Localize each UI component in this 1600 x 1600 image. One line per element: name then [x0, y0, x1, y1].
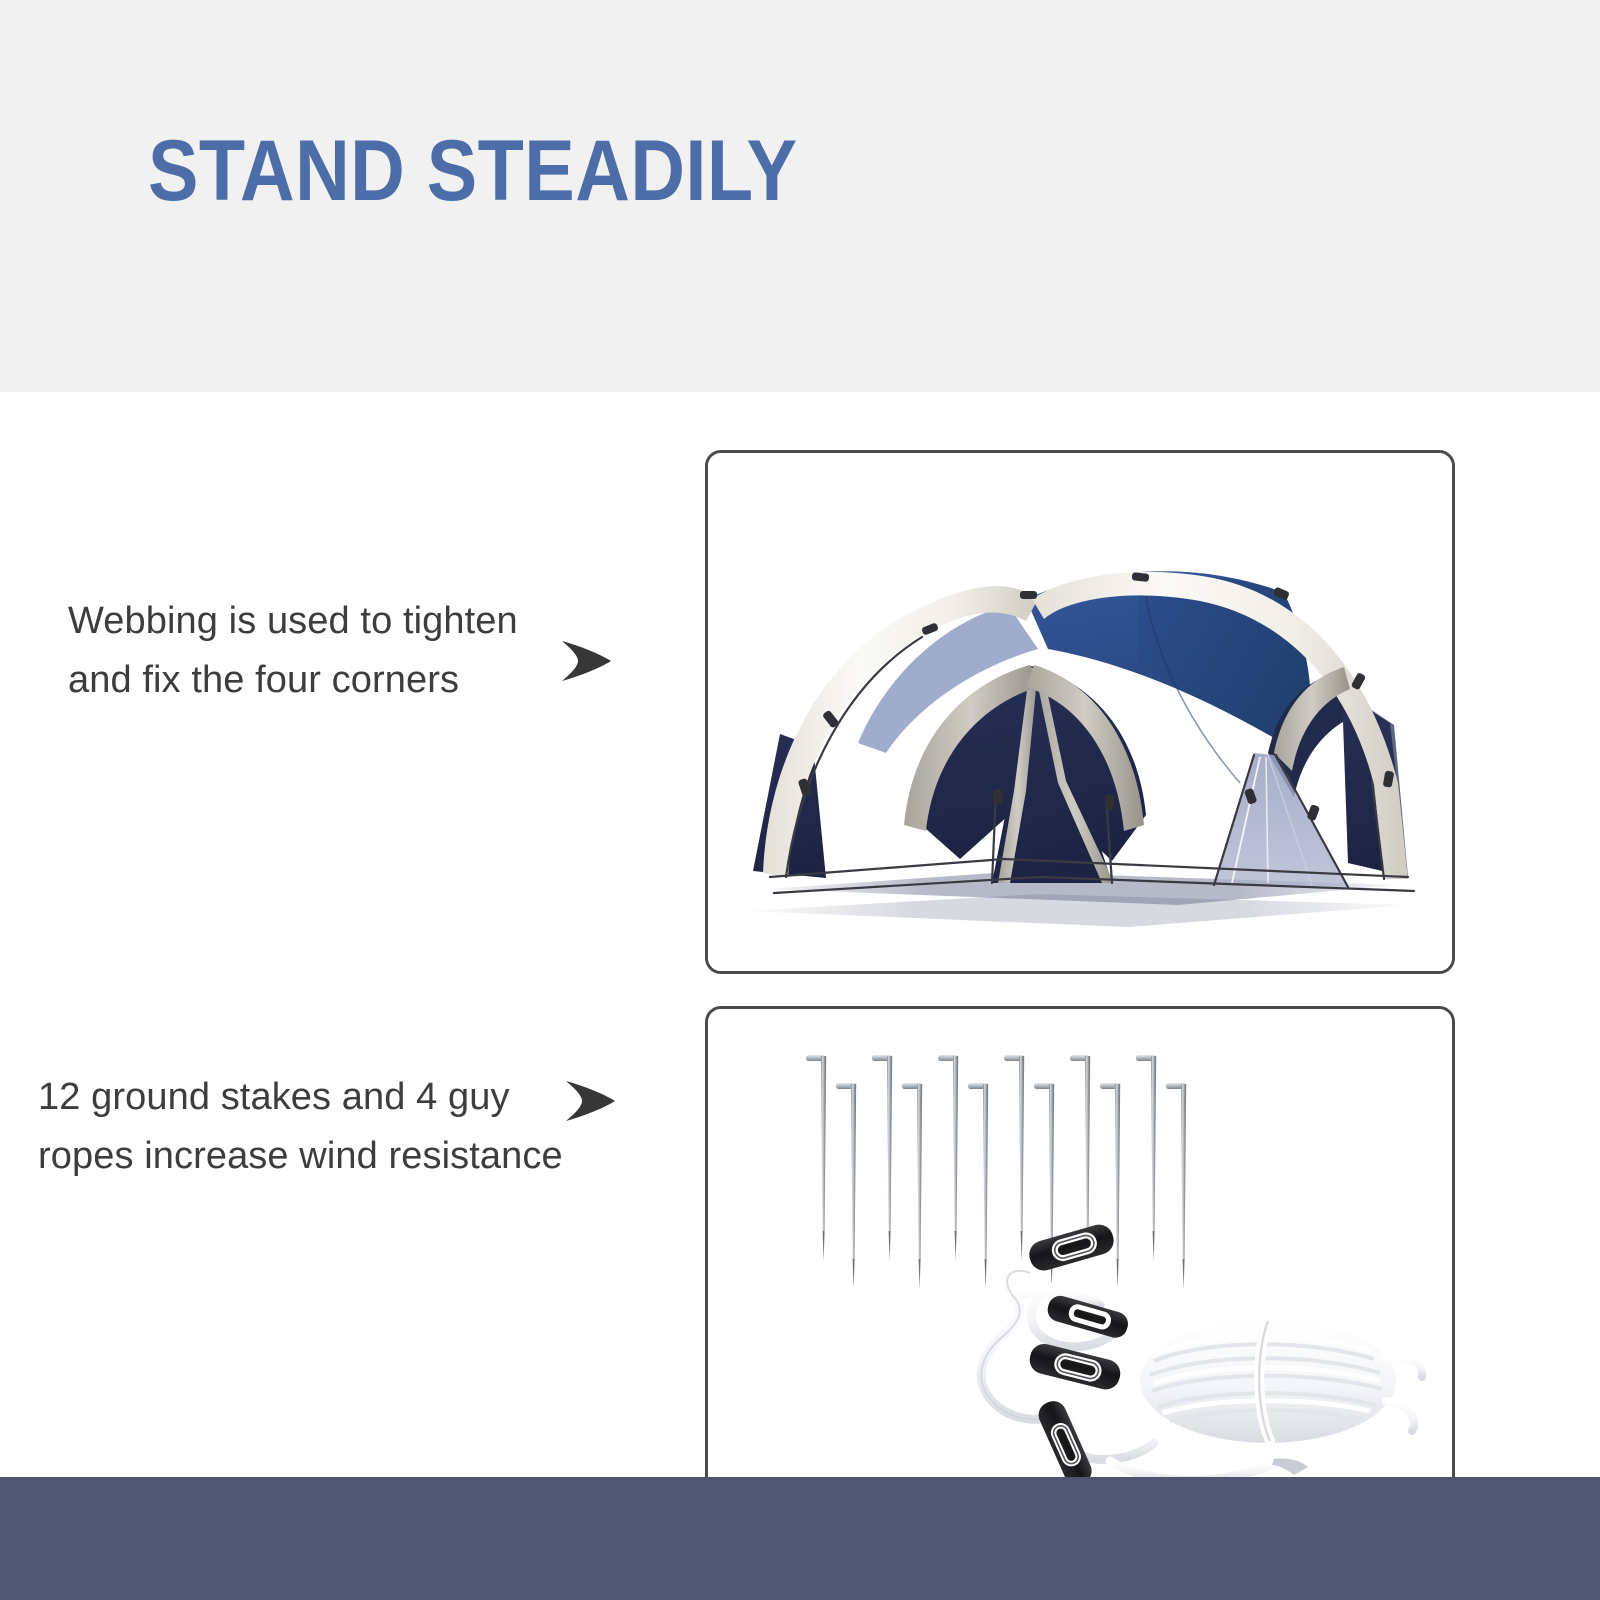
arrow-right-icon: [562, 1078, 618, 1129]
infographic-canvas: STAND STEADILY Webbing is used to tighte…: [0, 0, 1600, 1600]
caption-line: and fix the four corners: [68, 651, 518, 710]
caption-line: ropes increase wind resistance: [38, 1127, 563, 1186]
feature-caption-stakes: 12 ground stakes and 4 guy ropes increas…: [38, 1068, 563, 1186]
page-title: STAND STEADILY: [148, 126, 798, 216]
dome-gazebo-tent-illustration: [708, 453, 1452, 971]
caption-line: 12 ground stakes and 4 guy: [38, 1068, 563, 1127]
product-photo-panel-stakes-ropes: [705, 1006, 1455, 1512]
stakes-and-guy-ropes-illustration: [708, 1009, 1452, 1509]
feature-caption-webbing: Webbing is used to tighten and fix the f…: [68, 592, 518, 710]
product-photo-panel-tent: [705, 450, 1455, 974]
footer-band: [0, 1477, 1600, 1600]
arrow-right-icon: [558, 638, 614, 689]
caption-line: Webbing is used to tighten: [68, 592, 518, 651]
